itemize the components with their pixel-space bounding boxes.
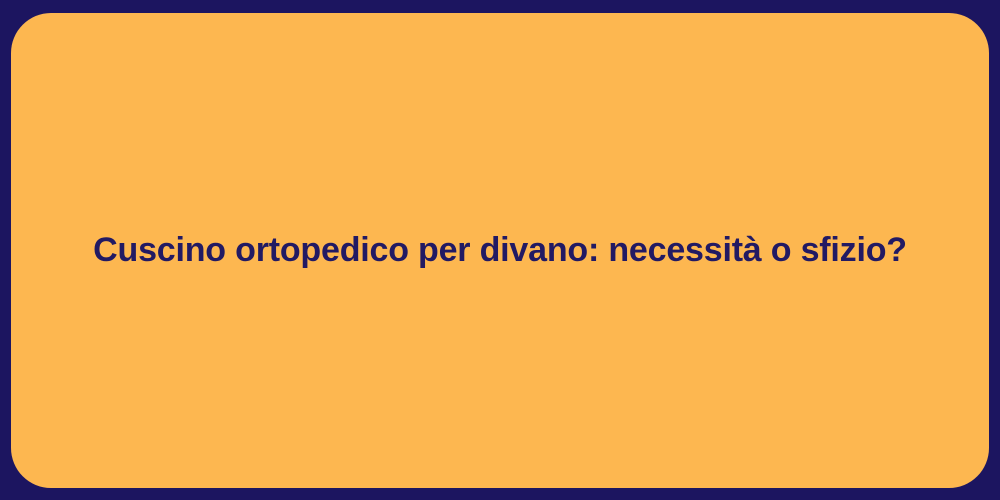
page-title: Cuscino ortopedico per divano: necessità…: [53, 229, 947, 272]
banner-frame: Cuscino ortopedico per divano: necessità…: [0, 0, 1000, 500]
title-card: Cuscino ortopedico per divano: necessità…: [11, 13, 989, 488]
